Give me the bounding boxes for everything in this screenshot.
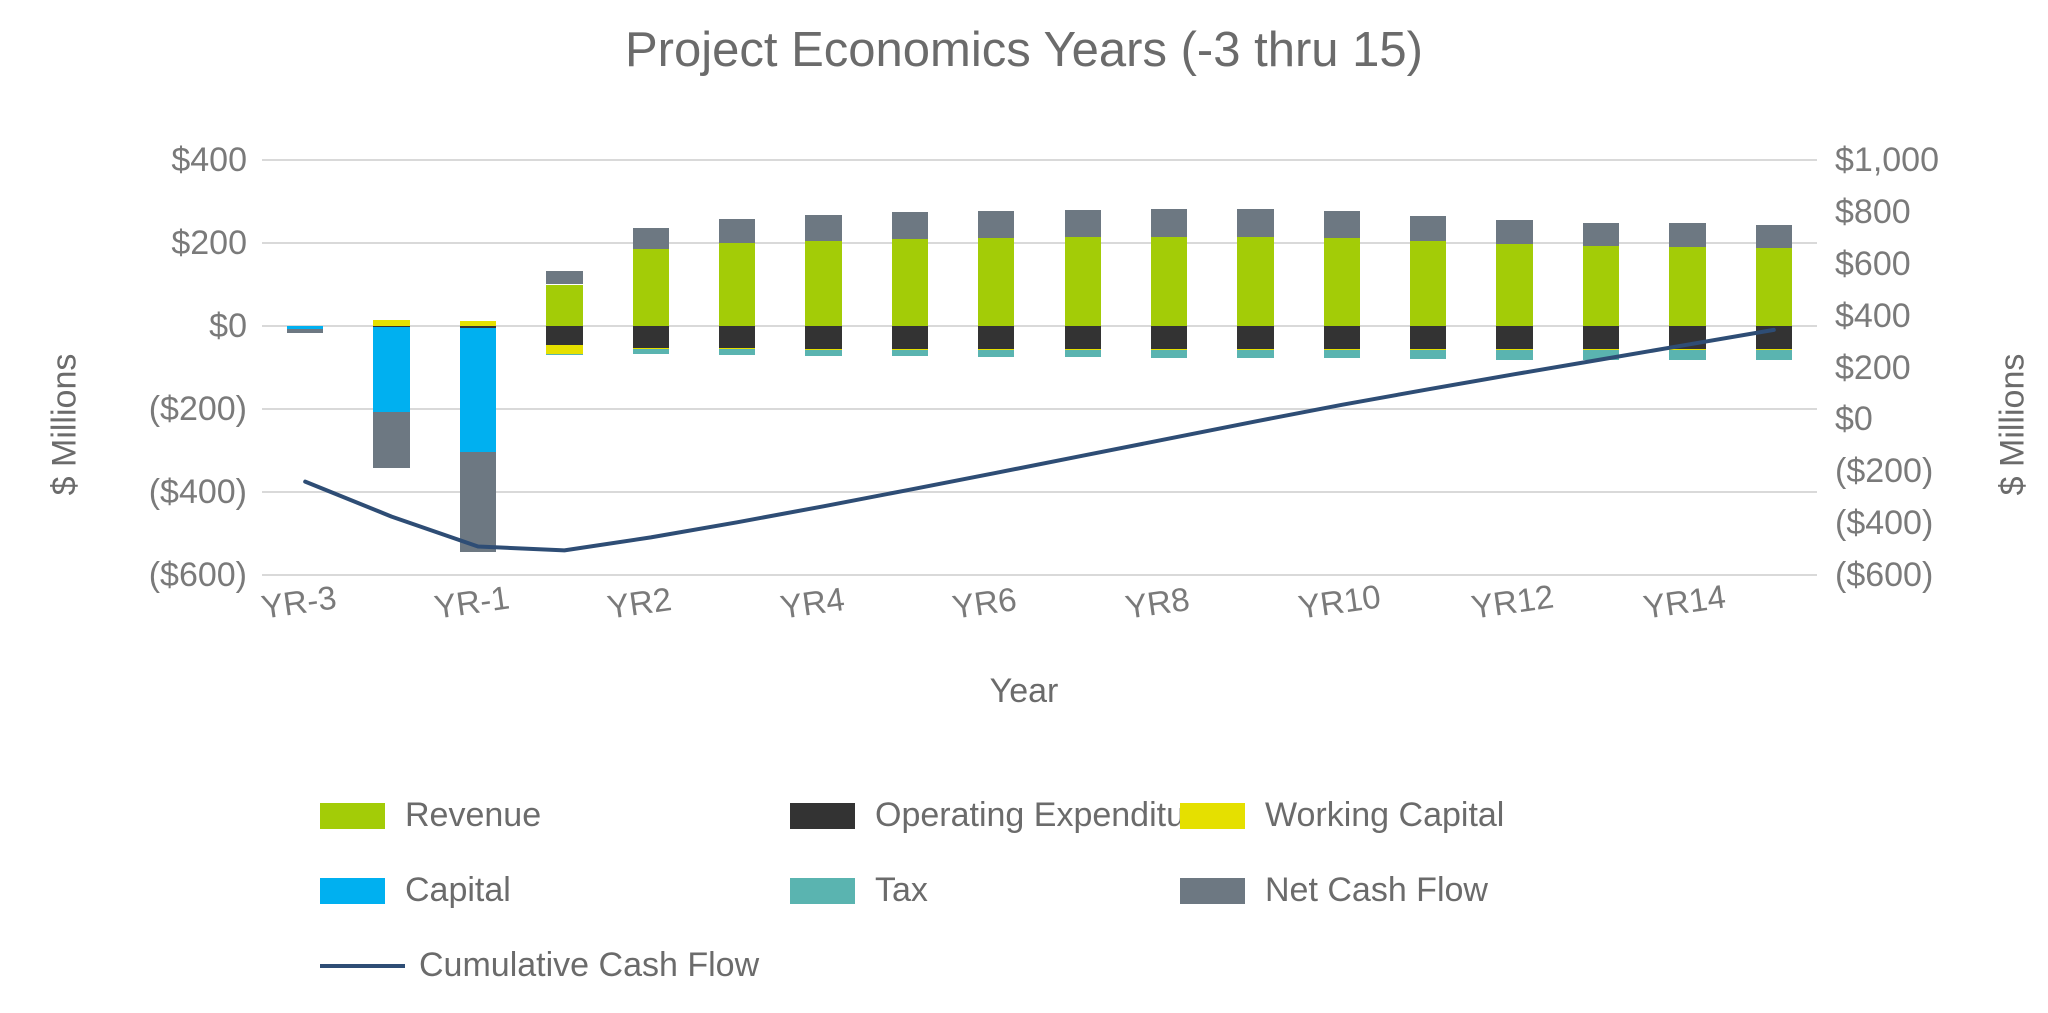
legend-row: Cumulative Cash Flow bbox=[320, 928, 1600, 1003]
y-axis-left-tick: $0 bbox=[57, 309, 247, 343]
legend-label: Working Capital bbox=[1265, 796, 1504, 835]
legend-item-net-cash-flow[interactable]: Net Cash Flow bbox=[1180, 871, 1600, 910]
legend-swatch-revenue bbox=[320, 803, 385, 829]
x-axis-tick: YR4 bbox=[778, 580, 847, 627]
x-axis-tick: YR-3 bbox=[259, 579, 339, 627]
legend-swatch-working-capital bbox=[1180, 803, 1245, 829]
cumulative-cash-flow-line bbox=[262, 160, 1817, 575]
legend-item-cumulative-cash-flow[interactable]: Cumulative Cash Flow bbox=[320, 946, 790, 985]
legend-label: Tax bbox=[875, 871, 928, 910]
y-axis-right-tick: ($200) bbox=[1835, 454, 2025, 488]
y-axis-right-tick: $400 bbox=[1835, 299, 2025, 333]
legend-row: Revenue Operating Expenditure Working Ca… bbox=[320, 778, 1600, 853]
x-axis-tick: YR10 bbox=[1296, 578, 1383, 627]
y-axis-right-tick: $0 bbox=[1835, 402, 2025, 436]
legend-swatch-capital bbox=[320, 878, 385, 904]
x-axis-tick: YR6 bbox=[950, 580, 1019, 627]
legend-row: Capital Tax Net Cash Flow bbox=[320, 853, 1600, 928]
legend-item-operating-expenditure[interactable]: Operating Expenditure bbox=[790, 796, 1180, 835]
x-axis-tick: YR-1 bbox=[432, 579, 512, 627]
legend-item-capital[interactable]: Capital bbox=[320, 871, 790, 910]
y-axis-right-tick: $800 bbox=[1835, 195, 2025, 229]
legend-item-revenue[interactable]: Revenue bbox=[320, 796, 790, 835]
x-axis-tick: YR12 bbox=[1469, 578, 1556, 627]
legend-item-working-capital[interactable]: Working Capital bbox=[1180, 796, 1600, 835]
y-axis-left-tick: $200 bbox=[57, 226, 247, 260]
legend-swatch-cumulative-cash-flow bbox=[320, 964, 405, 968]
y-axis-right-tick: ($600) bbox=[1835, 558, 2025, 592]
y-axis-left-tick: ($400) bbox=[57, 475, 247, 509]
y-axis-left-tick: ($200) bbox=[57, 392, 247, 426]
legend-swatch-tax bbox=[790, 878, 855, 904]
chart-title: Project Economics Years (-3 thru 15) bbox=[0, 22, 2048, 78]
y-axis-right-tick: $200 bbox=[1835, 351, 2025, 385]
legend-swatch-net-cash-flow bbox=[1180, 878, 1245, 904]
y-axis-left-tick: ($600) bbox=[57, 558, 247, 592]
legend-label: Operating Expenditure bbox=[875, 796, 1215, 835]
chart-legend: Revenue Operating Expenditure Working Ca… bbox=[320, 778, 1600, 1003]
x-axis-tick: YR2 bbox=[605, 580, 674, 627]
legend-label: Cumulative Cash Flow bbox=[419, 946, 759, 985]
plot-area bbox=[262, 160, 1817, 575]
legend-item-tax[interactable]: Tax bbox=[790, 871, 1180, 910]
legend-swatch-operating-expenditure bbox=[790, 803, 855, 829]
y-axis-left-tick: $400 bbox=[57, 143, 247, 177]
x-axis-title: Year bbox=[0, 672, 2048, 711]
x-axis-tick: YR14 bbox=[1641, 578, 1728, 627]
y-axis-right-tick: $600 bbox=[1835, 247, 2025, 281]
x-axis-tick-labels: YR-3YR-1YR2YR4YR6YR8YR10YR12YR14 bbox=[262, 583, 1817, 643]
y-axis-right-tick: ($400) bbox=[1835, 506, 2025, 540]
legend-label: Capital bbox=[405, 871, 511, 910]
x-axis-tick: YR8 bbox=[1123, 580, 1192, 627]
y-axis-right-tick: $1,000 bbox=[1835, 143, 2025, 177]
legend-label: Net Cash Flow bbox=[1265, 871, 1488, 910]
cumulative-cash-flow-path bbox=[305, 330, 1774, 551]
legend-label: Revenue bbox=[405, 796, 541, 835]
